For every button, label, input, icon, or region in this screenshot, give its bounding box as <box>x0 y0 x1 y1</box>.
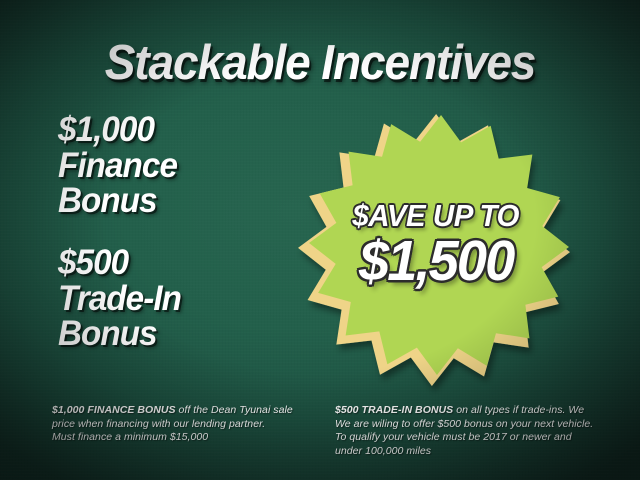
fine-print-line: To qualify your vehicle must be 2017 or … <box>335 431 600 445</box>
fine-print-line: price when financing with our lending pa… <box>52 418 317 432</box>
fine-print-line: under 100,000 miles <box>335 445 600 459</box>
fine-print-column-trade-in: $500 TRADE-IN BONUS on all types if trad… <box>335 404 600 458</box>
fine-print-line: $500 TRADE-IN BONUS on all types if trad… <box>335 404 600 418</box>
fine-print-line: We are wiling to offer $500 bonus on you… <box>335 418 600 432</box>
page-title: Stackable Incentives <box>19 39 621 88</box>
offer-label-line-1: Trade-In <box>58 281 296 317</box>
offer-amount: $500 <box>58 245 296 281</box>
offer-label-line-2: Bonus <box>58 316 296 352</box>
fine-print-line: Must finance a minimum $15,000 <box>52 431 317 445</box>
fine-print-lead-rest: off the Dean Tyunai sale <box>176 404 293 416</box>
savings-starburst-badge: $AVE UP TO $1,500 <box>298 106 580 390</box>
fine-print-lead: $1,000 FINANCE BONUS <box>52 404 176 416</box>
offer-label-line-1: Finance <box>58 148 296 184</box>
fine-print-column-finance: $1,000 FINANCE BONUS off the Dean Tyunai… <box>52 404 317 458</box>
fine-print-lead-rest: on all types if trade-ins. We <box>453 404 584 416</box>
promotional-poster: Stackable Incentives $1,000 Finance Bonu… <box>0 0 640 480</box>
offer-item-finance: $1,000 Finance Bonus <box>58 112 308 219</box>
offer-list: $1,000 Finance Bonus $500 Trade-In Bonus <box>58 112 308 378</box>
fine-print-line: $1,000 FINANCE BONUS off the Dean Tyunai… <box>52 404 317 418</box>
offer-amount: $1,000 <box>58 112 296 148</box>
starburst-icon <box>298 106 580 390</box>
fine-print-lead: $500 TRADE-IN BONUS <box>335 404 453 416</box>
offer-item-trade-in: $500 Trade-In Bonus <box>58 245 308 352</box>
fine-print: $1,000 FINANCE BONUS off the Dean Tyunai… <box>52 404 600 458</box>
offer-label-line-2: Bonus <box>58 183 296 219</box>
